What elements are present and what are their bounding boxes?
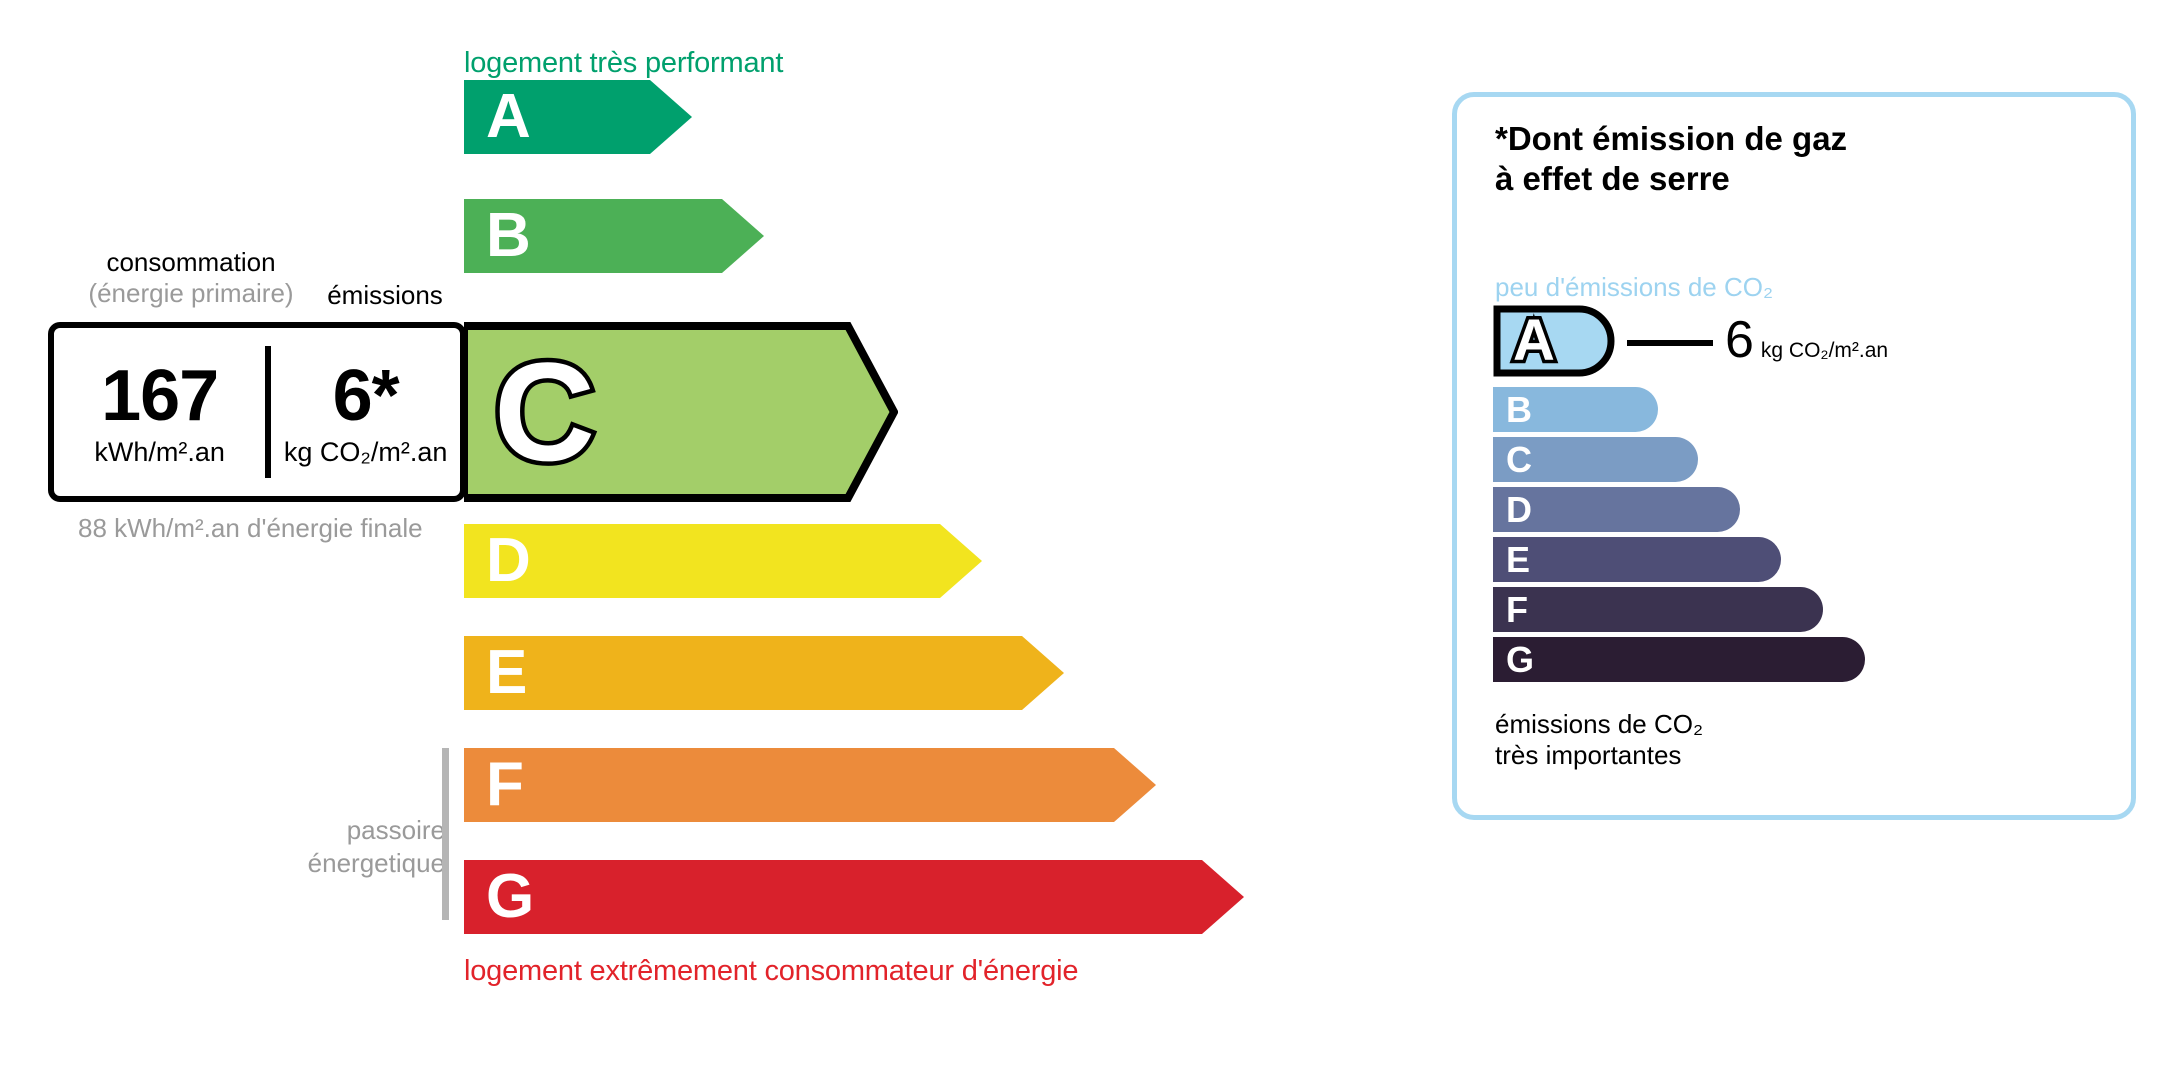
- co2-bottom-caption: émissions de CO₂ très importantes: [1495, 709, 1703, 771]
- co2-band-letter-d: D: [1506, 492, 1532, 528]
- co2-band-letter-b: B: [1506, 392, 1532, 428]
- co2-top-caption: peu d'émissions de CO₂: [1495, 272, 1773, 303]
- co2-connector-line: [1627, 340, 1713, 346]
- consumption-value: 167: [101, 362, 218, 430]
- co2-band-letter-f: F: [1506, 592, 1528, 628]
- co2-band-g[interactable]: G: [1493, 637, 1865, 682]
- consumption-value-cell: 167 kWh/m².an: [54, 328, 265, 496]
- energy-band-shape-e: [464, 636, 1064, 710]
- energy-band-letter-g: G: [486, 866, 534, 928]
- energy-bottom-caption: logement extrêmement consommateur d'éner…: [464, 955, 1078, 988]
- co2-band-letter-c: C: [1506, 442, 1532, 478]
- consumption-header-title: consommation: [106, 247, 275, 277]
- energy-band-selected-c[interactable]: C: [464, 322, 898, 502]
- energy-band-letter-b: B: [486, 205, 531, 267]
- emissions-header: émissions: [305, 280, 465, 311]
- dpe-label: logement très performant ABDEFG C consom…: [0, 0, 2169, 1079]
- value-box: 167 kWh/m².an 6* kg CO₂/m².an: [48, 322, 466, 502]
- energy-band-f[interactable]: F: [464, 748, 1156, 822]
- co2-band-d[interactable]: D: [1493, 487, 1740, 532]
- co2-band-selected-a[interactable]: A: [1493, 305, 1617, 377]
- energy-band-letter-e: E: [486, 642, 527, 704]
- co2-selected-value-group: 6kg CO₂/m².an: [1725, 305, 1888, 375]
- energy-band-d[interactable]: D: [464, 524, 982, 598]
- energy-band-shape-g: [464, 860, 1244, 934]
- energy-band-letter-f: F: [486, 754, 524, 816]
- energy-band-b[interactable]: B: [464, 199, 764, 273]
- final-energy-note: 88 kWh/m².an d'énergie finale: [78, 512, 423, 545]
- co2-panel-title: *Dont émission de gaz à effet de serre: [1495, 119, 1847, 198]
- passoire-energetique-bracket: [442, 748, 449, 920]
- energy-top-caption: logement très performant: [464, 47, 783, 80]
- energy-band-letter-c: C: [494, 342, 595, 482]
- consumption-header-subtitle: (énergie primaire): [66, 278, 316, 309]
- passoire-energetique-label: passoire énergetique: [245, 814, 445, 879]
- energy-consumption-panel: logement très performant ABDEFG C consom…: [0, 0, 1400, 1079]
- co2-band-letter-a: A: [1513, 312, 1555, 370]
- co2-band-c[interactable]: C: [1493, 437, 1698, 482]
- emissions-unit: kg CO₂/m².an: [284, 437, 448, 468]
- co2-band-e[interactable]: E: [1493, 537, 1781, 582]
- co2-selected-value: 6: [1725, 311, 1754, 369]
- energy-band-a[interactable]: A: [464, 80, 692, 154]
- co2-band-letter-g: G: [1506, 642, 1534, 678]
- energy-band-letter-d: D: [486, 530, 531, 592]
- co2-band-b[interactable]: B: [1493, 387, 1658, 432]
- co2-band-f[interactable]: F: [1493, 587, 1823, 632]
- consumption-header: consommation (énergie primaire): [66, 247, 316, 308]
- energy-band-g[interactable]: G: [464, 860, 1244, 934]
- energy-band-letter-a: A: [486, 86, 531, 148]
- co2-emissions-panel: *Dont émission de gaz à effet de serre p…: [1452, 92, 2136, 820]
- co2-selected-unit: kg CO₂/m².an: [1761, 339, 1888, 362]
- consumption-unit: kWh/m².an: [94, 437, 225, 468]
- co2-band-letter-e: E: [1506, 542, 1530, 578]
- energy-band-e[interactable]: E: [464, 636, 1064, 710]
- emissions-value-cell: 6* kg CO₂/m².an: [271, 328, 460, 496]
- energy-band-shape-f: [464, 748, 1156, 822]
- energy-band-shape-d: [464, 524, 982, 598]
- emissions-value: 6*: [333, 362, 399, 430]
